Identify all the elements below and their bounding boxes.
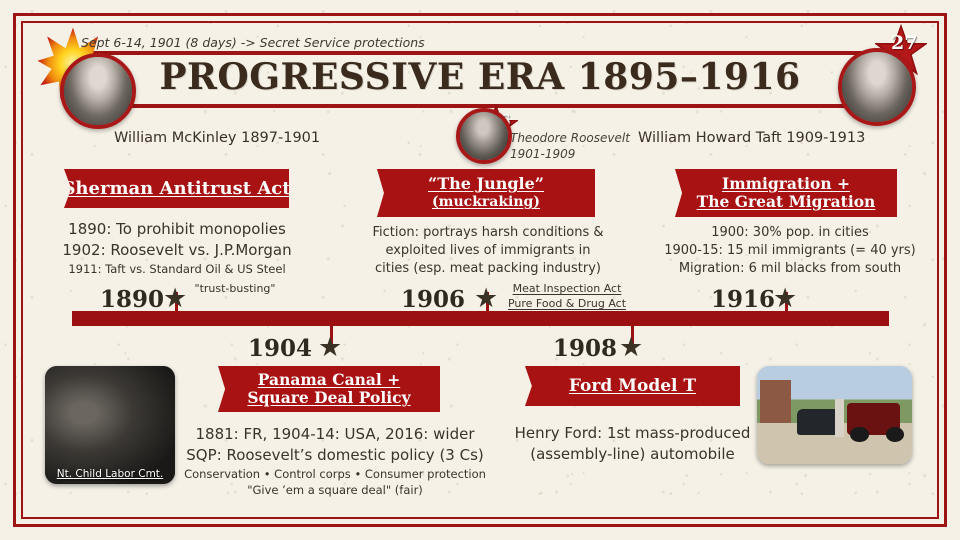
sherman-line-2: 1902: Roosevelt vs. J.P.Morgan <box>36 240 318 261</box>
president-name-mckinley: William McKinley 1897-1901 <box>114 130 320 146</box>
panama-subbody: Conservation • Control corps • Consumer … <box>176 466 494 498</box>
ribbon-panama-line-1: Panama Canal + <box>258 371 400 389</box>
sherman-body: 1890: To prohibit monopolies 1902: Roose… <box>36 219 318 260</box>
ribbon-immigration-line-1: Immigration + <box>722 175 850 193</box>
timeline-star-1890: ★ <box>163 283 187 314</box>
timeline-star-1906: ★ <box>474 283 498 314</box>
jungle-line-1: Fiction: portrays harsh conditions & <box>348 224 628 242</box>
photo-child-labor: Nt. Child Labor Cmt. <box>45 366 175 484</box>
immigration-line-3: Migration: 6 mil blacks from south <box>645 260 935 278</box>
immigration-line-2: 1900-15: 15 mil immigrants (= 40 yrs) <box>645 242 935 260</box>
president-name-roosevelt: Theodore Roosevelt 1901-1909 <box>510 130 630 162</box>
timeline-year-1916: 1916 <box>711 286 775 313</box>
jungle-body: Fiction: portrays harsh conditions & exp… <box>348 224 628 278</box>
panama-line-1: 1881: FR, 1904-14: USA, 2016: wider <box>176 424 494 445</box>
sherman-line-1: 1890: To prohibit monopolies <box>36 219 318 240</box>
page-title: PROGRESSIVE ERA 1895–1916 <box>140 56 820 98</box>
ribbon-sherman-line-1: Sherman Antitrust Act <box>62 178 290 199</box>
panama-line-2: SQP: Roosevelt’s domestic policy (3 Cs) <box>176 445 494 466</box>
ford-body: Henry Ford: 1st mass-produced (assembly-… <box>500 423 765 464</box>
timeline-year-1904: 1904 <box>248 335 312 362</box>
ribbon-panama-line-2: Square Deal Policy <box>247 389 410 407</box>
act-pure-food-drug: Pure Food & Drug Act <box>492 296 642 311</box>
panama-body: 1881: FR, 1904-14: USA, 2016: wider SQP:… <box>176 424 494 465</box>
photo-child-labor-caption: Nt. Child Labor Cmt. <box>45 468 175 480</box>
roosevelt-years-line: 1901-1909 <box>510 147 575 161</box>
president-name-taft: William Howard Taft 1909-1913 <box>638 130 865 146</box>
photo-model-t <box>757 366 912 464</box>
immigration-body: 1900: 30% pop. in cities 1900-15: 15 mil… <box>645 224 935 278</box>
ribbon-the-jungle: “The Jungle” (muckraking) <box>377 169 595 217</box>
slide-stage: PROGRESSIVE ERA 1895–1916 Sept 6-14, 190… <box>0 0 960 540</box>
portrait-taft <box>838 48 916 126</box>
timeline-year-1890: 1890 <box>100 286 164 313</box>
timeline-year-1906: 1906 <box>401 286 465 313</box>
panama-quote: "Give ’em a square deal" (fair) <box>176 482 494 498</box>
portrait-roosevelt <box>456 108 512 164</box>
ribbon-ford-model-t: Ford Model T <box>525 366 740 406</box>
portrait-mckinley <box>60 53 136 129</box>
timeline-year-1908: 1908 <box>553 335 617 362</box>
ribbon-sherman-antitrust-act: Sherman Antitrust Act <box>64 169 289 208</box>
roosevelt-name-line: Theodore Roosevelt <box>510 131 630 145</box>
timeline-star-1908: ★ <box>619 332 643 363</box>
title-rule-top <box>77 51 883 55</box>
sherman-subline: 1911: Taft vs. Standard Oil & US Steel <box>36 261 318 277</box>
immigration-line-1: 1900: 30% pop. in cities <box>645 224 935 242</box>
ribbon-immigration-line-2: The Great Migration <box>697 193 876 211</box>
ford-line-1: Henry Ford: 1st mass-produced <box>500 423 765 444</box>
ribbon-jungle-line-1: “The Jungle” <box>428 175 544 194</box>
ribbon-jungle-line-2: (muckraking) <box>432 194 540 211</box>
president-number-27: 27 <box>891 32 917 54</box>
ribbon-immigration-great-migration: Immigration + The Great Migration <box>675 169 897 217</box>
jungle-acts: Meat Inspection Act Pure Food & Drug Act <box>492 281 642 311</box>
panama-3cs: Conservation • Control corps • Consumer … <box>176 466 494 482</box>
ribbon-ford-line-1: Ford Model T <box>569 376 696 396</box>
timeline-star-1904: ★ <box>318 332 342 363</box>
jungle-line-2: exploited lives of immigrants in <box>348 242 628 260</box>
ford-line-2: (assembly-line) automobile <box>500 444 765 465</box>
timeline-star-1916: ★ <box>773 283 797 314</box>
act-meat-inspection: Meat Inspection Act <box>492 281 642 296</box>
mckinley-note: Sept 6-14, 1901 (8 days) -> Secret Servi… <box>81 35 425 50</box>
jungle-line-3: cities (esp. meat packing industry) <box>348 260 628 278</box>
ribbon-panama-square-deal: Panama Canal + Square Deal Policy <box>218 366 440 412</box>
